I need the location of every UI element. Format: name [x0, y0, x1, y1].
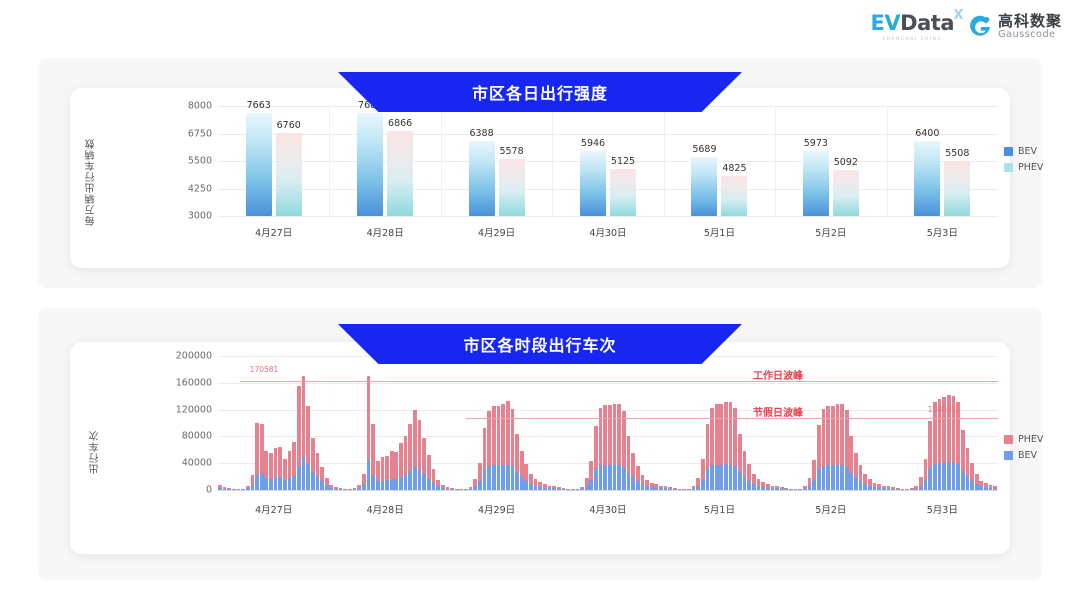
chart2-stacked-bar	[849, 436, 853, 490]
chart2-segment-bev	[515, 472, 519, 490]
chart2-segment-phev	[390, 451, 394, 478]
chart2-segment-phev	[320, 467, 324, 482]
chart1-legend: BEVPHEV	[1004, 146, 1043, 173]
chart2-stacked-bar	[757, 479, 761, 490]
chart1-value-label: 5092	[834, 157, 858, 168]
chart2-stacked-bar	[515, 434, 519, 490]
chart1-y-tick: 5500	[188, 156, 212, 167]
chart2-segment-bev	[511, 466, 515, 490]
gausscode-text: 高科数聚 Gausscode	[998, 14, 1062, 41]
chart1-bar-bev	[803, 151, 829, 216]
chart2-segment-phev	[608, 405, 612, 465]
chart2-segment-bev	[956, 464, 960, 490]
chart2-stacked-bar	[278, 447, 282, 490]
chart2-segment-bev	[845, 467, 849, 490]
chart1-group-separator	[441, 106, 442, 216]
chart2-segment-phev	[617, 404, 621, 466]
chart2-stacked-bar	[622, 411, 626, 490]
chart2-segment-phev	[283, 459, 287, 480]
chart1-y-axis-label: 每万辆出行车辆数	[84, 118, 99, 226]
chart2-stacked-bar	[928, 421, 932, 490]
chart2-segment-phev	[325, 478, 329, 485]
chart2-stacked-bar	[845, 410, 849, 490]
chart1-legend-swatch	[1004, 163, 1013, 172]
chart2-stacked-bar	[761, 482, 765, 490]
chart2-legend-label: BEV	[1018, 450, 1037, 461]
chart2-stacked-bar	[724, 402, 728, 490]
chart2-stacked-bar	[696, 478, 700, 490]
chart2-stacked-bar	[627, 436, 631, 490]
chart2-segment-bev	[747, 481, 751, 490]
chart2-stacked-bar	[984, 483, 988, 490]
chart2-segment-bev	[961, 471, 965, 490]
chart2-segment-bev	[701, 479, 705, 490]
chart2-segment-phev	[831, 406, 835, 466]
chart2-segment-phev	[534, 479, 538, 486]
chart2-segment-bev	[278, 477, 282, 490]
chart2-segment-phev	[627, 436, 631, 472]
chart2-x-tick: 4月28日	[367, 502, 404, 516]
chart1-bar-phev	[610, 169, 636, 216]
chart2-segment-bev	[622, 467, 626, 490]
chart2-stacked-bar	[873, 483, 877, 490]
chart2-segment-phev	[836, 404, 840, 465]
chart2-segment-phev	[752, 474, 756, 484]
chart2-segment-phev	[478, 463, 482, 480]
chart2-segment-bev	[854, 477, 858, 490]
evdata-letter-v: V	[884, 11, 900, 35]
chart2-stacked-bar	[752, 474, 756, 490]
chart2-stacked-bar	[599, 408, 603, 490]
chart2-stacked-bar	[979, 481, 983, 490]
chart2-legend-swatch	[1004, 451, 1013, 460]
chart2-segment-bev	[506, 465, 510, 490]
chart2-segment-phev	[817, 425, 821, 469]
chart1-value-label: 7663	[247, 100, 271, 111]
chart2-stacked-bar	[362, 474, 366, 490]
chart2-stacked-bar	[863, 474, 867, 490]
chart2-stacked-bar	[473, 479, 477, 490]
chart2-segment-phev	[278, 447, 282, 476]
chart2-stacked-bar	[399, 443, 403, 490]
chart2-y-tick: 80000	[182, 431, 212, 442]
chart2-segment-bev	[394, 479, 398, 490]
chart2-legend-item-bev[interactable]: BEV	[1004, 450, 1043, 461]
chart1-value-label: 6866	[388, 118, 412, 129]
chart2-stacked-bar	[594, 426, 598, 490]
chart2-segment-phev	[302, 376, 306, 457]
chart1-bar-phev	[387, 131, 413, 216]
chart2-segment-phev	[251, 475, 255, 484]
chart2-stacked-bar	[269, 453, 273, 490]
chart1-bar-phev	[499, 159, 525, 216]
chart1-legend-item-phev[interactable]: PHEV	[1004, 162, 1043, 173]
chart2-segment-bev	[302, 457, 306, 490]
chart2-segment-phev	[919, 477, 923, 485]
chart2-stacked-bar	[283, 459, 287, 490]
chart2-legend-item-phev[interactable]: PHEV	[1004, 434, 1043, 445]
chart2-segment-bev	[859, 481, 863, 490]
chart2-stacked-bar	[975, 474, 979, 490]
chart1-bar-phev	[944, 161, 970, 216]
chart2-segment-bev	[413, 467, 417, 490]
chart2-stacked-bar	[320, 467, 324, 490]
chart2-segment-bev	[274, 477, 278, 490]
chart2-stacked-bar	[812, 460, 816, 490]
chart1-value-label: 5125	[611, 156, 635, 167]
chart2-segment-phev	[961, 430, 965, 471]
chart2-segment-phev	[729, 402, 733, 464]
chart2-segment-phev	[613, 404, 617, 464]
chart2-segment-phev	[924, 459, 928, 480]
chart1-x-tick: 5月1日	[704, 225, 735, 239]
chart2-segment-bev	[928, 468, 932, 490]
chart2-segment-bev	[427, 479, 431, 490]
chart2-segment-bev	[849, 473, 853, 490]
chart2-stacked-bar	[636, 466, 640, 490]
chart2-segment-phev	[269, 453, 273, 478]
chart2-stacked-bar	[868, 479, 872, 490]
chart2-stacked-bar	[288, 451, 292, 490]
chart2-segment-phev	[631, 453, 635, 477]
chart1-legend-swatch	[1004, 147, 1013, 156]
chart2-stacked-bar	[743, 451, 747, 490]
chart2-segment-bev	[524, 481, 528, 490]
chart2-segment-phev	[966, 448, 970, 475]
chart1-legend-label: BEV	[1018, 146, 1037, 157]
chart2-stacked-bar	[274, 448, 278, 490]
chart2-stacked-bar	[255, 423, 259, 490]
chart2-segment-bev	[608, 465, 612, 490]
chart2-stacked-bar	[418, 420, 422, 490]
chart1-bar-phev	[276, 133, 302, 216]
chart2-stacked-bar	[506, 401, 510, 490]
chart2-stacked-bar	[645, 480, 649, 490]
chart2-gridline	[218, 383, 998, 384]
chart2-segment-phev	[812, 460, 816, 479]
chart2-stacked-bar	[404, 436, 408, 490]
chart2-segment-bev	[492, 465, 496, 490]
chart2-stacked-bar	[738, 434, 742, 490]
chart2-x-tick: 5月1日	[704, 502, 735, 516]
chart2-segment-bev	[264, 478, 268, 490]
chart2-stacked-bar	[706, 424, 710, 490]
chart2-y-tick: 200000	[176, 351, 212, 362]
chart2-stacked-bar	[390, 451, 394, 490]
chart2-segment-phev	[501, 404, 505, 465]
chart2-stacked-bar	[822, 409, 826, 490]
chart2-segment-bev	[404, 475, 408, 490]
chart2-segment-bev	[631, 477, 635, 490]
chart1-gridline	[218, 216, 998, 217]
chart1-value-label: 5973	[804, 138, 828, 149]
chart2-segment-phev	[422, 438, 426, 474]
chart2-segment-phev	[264, 451, 268, 478]
chart2-stacked-bar	[413, 410, 417, 490]
chart2-segment-bev	[724, 464, 728, 490]
chart2-x-tick: 4月27日	[255, 502, 292, 516]
chart2-segment-bev	[831, 465, 835, 490]
chart2-legend: PHEVBEV	[1004, 434, 1043, 461]
chart2-stacked-bar	[478, 463, 482, 490]
chart2-x-tick: 4月30日	[589, 502, 626, 516]
chart2-segment-phev	[427, 455, 431, 478]
chart1-gridline	[218, 161, 998, 162]
chart2-segment-phev	[603, 405, 607, 465]
chart2-segment-phev	[594, 426, 598, 470]
chart2-y-tick: 0	[206, 485, 212, 496]
chart2-segment-bev	[260, 473, 264, 490]
chart2-segment-phev	[826, 406, 830, 466]
chart1-value-label: 5689	[692, 144, 716, 155]
chart-daily-intensity: 每万辆出行车辆数 30004250550067508000766367604月2…	[70, 88, 1010, 268]
chart1-bar-bev	[580, 151, 606, 216]
chart2-segment-bev	[306, 464, 310, 490]
chart2-segment-phev	[255, 423, 259, 475]
chart2-segment-bev	[603, 465, 607, 490]
chart2-stacked-bar	[251, 475, 255, 490]
chart2-segment-bev	[311, 472, 315, 490]
chart1-bar-bev	[914, 141, 940, 216]
chart2-segment-phev	[274, 448, 278, 477]
chart2-segment-phev	[641, 475, 645, 484]
section-title-daily-intensity: 市区各日出行强度	[338, 72, 742, 112]
chart-card-daily-intensity: 每万辆出行车辆数 30004250550067508000766367604月2…	[70, 88, 1010, 268]
chart2-segment-bev	[478, 481, 482, 490]
chart2-segment-bev	[408, 471, 412, 490]
chart2-stacked-bar	[311, 438, 315, 490]
chart2-x-tick: 5月3日	[927, 502, 958, 516]
chart1-plot-area: 30004250550067508000766367604月27日7684686…	[218, 106, 998, 216]
chart2-segment-phev	[622, 411, 626, 467]
chart2-segment-bev	[947, 462, 951, 490]
chart2-y-tick: 160000	[176, 377, 212, 388]
chart2-stacked-bar	[701, 459, 705, 490]
chart2-stacked-bar	[306, 406, 310, 490]
chart2-stacked-bar	[970, 463, 974, 490]
chart1-bar-bev	[469, 141, 495, 216]
chart1-value-label: 5508	[945, 148, 969, 159]
gausscode-name-cn: 高科数聚	[998, 14, 1062, 30]
chart2-segment-bev	[385, 480, 389, 490]
chart1-value-label: 6760	[277, 120, 301, 131]
chart2-stacked-bar	[854, 452, 858, 490]
chart2-segment-phev	[381, 457, 385, 480]
chart2-stacked-bar	[617, 404, 621, 490]
chart1-group-separator	[552, 106, 553, 216]
evdata-wordmark: EVDataX	[871, 13, 954, 34]
chart2-stacked-bar	[524, 464, 528, 490]
chart2-segment-phev	[316, 453, 320, 476]
chart2-stacked-bar	[371, 424, 375, 490]
chart2-segment-bev	[970, 481, 974, 490]
chart2-stacked-bar	[585, 478, 589, 490]
page-header: EVDataX SHANGHAI CHINA 高科数聚 Gausscode	[0, 0, 1080, 58]
chart2-peak-value-108051: 108051	[928, 405, 957, 414]
chart2-stacked-bar	[408, 424, 412, 490]
chart2-segment-bev	[817, 469, 821, 490]
chart2-stacked-bar	[264, 451, 268, 490]
chart2-stacked-bar	[427, 455, 431, 490]
chart2-stacked-bar	[641, 475, 645, 490]
chart2-segment-phev	[585, 478, 589, 486]
chart2-segment-bev	[599, 465, 603, 490]
chart2-stacked-bar	[436, 480, 440, 490]
chart2-segment-bev	[729, 465, 733, 490]
chart1-bar-bev	[246, 113, 272, 216]
chart2-segment-phev	[418, 420, 422, 470]
chart2-segment-phev	[757, 479, 761, 486]
chart2-segment-phev	[367, 376, 371, 459]
chart2-segment-phev	[747, 464, 751, 481]
chart2-stacked-bar	[325, 478, 329, 490]
chart2-peak-value-170581: 170581	[250, 365, 279, 374]
chart2-segment-phev	[413, 410, 417, 467]
chart2-stacked-bar	[302, 376, 306, 490]
chart2-stacked-bar	[924, 459, 928, 490]
chart1-group-separator	[887, 106, 888, 216]
chart2-stacked-bar	[432, 469, 436, 490]
section-daily-intensity: 市区各日出行强度 每万辆出行车辆数 3000425055006750800076…	[38, 58, 1042, 288]
chart2-segment-bev	[706, 469, 710, 490]
chart2-annotation-holiday-peak: 节假日波峰	[753, 404, 803, 419]
chart1-x-tick: 4月29日	[478, 225, 515, 239]
chart2-segment-phev	[928, 421, 932, 468]
evdata-letter-e: E	[871, 11, 885, 35]
gausscode-logo: 高科数聚 Gausscode	[968, 14, 1062, 41]
chart2-segment-bev	[381, 481, 385, 490]
chart2-stacked-bar	[729, 402, 733, 490]
chart2-segment-phev	[863, 474, 867, 484]
section-hourly-trips: 市区各时段出行车次 出行车次 0400008000012000016000020…	[38, 308, 1042, 580]
chart2-segment-phev	[738, 434, 742, 472]
chart2-plot-area: 040000800001200001600002000004月27日4月28日4…	[218, 356, 998, 490]
chart1-x-tick: 4月28日	[367, 225, 404, 239]
chart2-x-tick: 5月2日	[815, 502, 846, 516]
chart2-stacked-bar	[316, 453, 320, 490]
chart2-segment-bev	[367, 459, 371, 490]
chart2-segment-bev	[255, 475, 259, 490]
chart2-stacked-bar	[292, 442, 296, 490]
chart2-stacked-bar	[394, 452, 398, 490]
chart2-stacked-bar	[859, 465, 863, 490]
chart2-stacked-bar	[483, 428, 487, 490]
chart2-segment-bev	[487, 466, 491, 490]
chart2-segment-phev	[715, 404, 719, 464]
chart2-segment-bev	[812, 480, 816, 490]
chart1-value-label: 5578	[499, 146, 523, 157]
chart1-x-tick: 4月27日	[255, 225, 292, 239]
evdata-logo: EVDataX SHANGHAI CHINA	[871, 13, 954, 41]
chart1-y-tick: 8000	[188, 101, 212, 112]
chart2-segment-bev	[636, 481, 640, 490]
chart2-segment-phev	[492, 406, 496, 465]
chart2-segment-bev	[733, 466, 737, 490]
chart2-segment-bev	[840, 465, 844, 490]
chart2-segment-phev	[260, 424, 264, 473]
chart2-stacked-bar	[520, 451, 524, 490]
chart2-segment-phev	[399, 443, 403, 477]
chart2-segment-bev	[376, 481, 380, 490]
chart1-bar-phev	[833, 170, 859, 216]
chart2-segment-bev	[938, 463, 942, 490]
chart2-segment-phev	[404, 436, 408, 475]
chart2-segment-phev	[376, 461, 380, 482]
chart2-segment-phev	[589, 461, 593, 480]
chart2-stacked-bar	[385, 456, 389, 490]
chart2-stacked-bar	[367, 376, 371, 490]
chart2-segment-phev	[701, 459, 705, 479]
chart2-segment-phev	[840, 404, 844, 466]
chart2-segment-bev	[497, 465, 501, 490]
chart2-segment-phev	[306, 406, 310, 464]
chart2-stacked-bar	[840, 404, 844, 490]
chart2-stacked-bar	[381, 457, 385, 490]
chart2-segment-phev	[515, 434, 519, 472]
chart2-stacked-bar	[487, 411, 491, 490]
chart2-segment-bev	[418, 470, 422, 490]
chart2-stacked-bar	[966, 448, 970, 490]
chart2-segment-bev	[371, 475, 375, 490]
chart2-stacked-bar	[297, 385, 301, 490]
chart2-segment-phev	[483, 428, 487, 470]
chart2-segment-phev	[297, 386, 301, 466]
chart2-segment-phev	[432, 469, 436, 482]
chart2-segment-phev	[636, 466, 640, 481]
chart2-stacked-bar	[747, 464, 751, 490]
chart2-segment-bev	[269, 479, 273, 490]
chart2-segment-bev	[320, 481, 324, 490]
section-title-hourly-trips: 市区各时段出行车次	[338, 324, 742, 364]
chart1-bar-bev	[357, 113, 383, 216]
chart1-group-separator	[775, 106, 776, 216]
chart2-stacked-bar	[836, 404, 840, 490]
chart2-segment-bev	[924, 479, 928, 490]
chart1-gridline	[218, 134, 998, 135]
chart2-stacked-bar	[919, 477, 923, 490]
chart-card-hourly-trips: 出行车次 040000800001200001600002000004月27日4…	[70, 342, 1010, 554]
chart1-value-label: 6400	[915, 128, 939, 139]
chart2-segment-phev	[408, 424, 412, 472]
chart2-stacked-bar	[956, 402, 960, 490]
chart1-value-label: 6388	[469, 128, 493, 139]
chart2-segment-bev	[966, 476, 970, 490]
chart2-segment-phev	[706, 424, 710, 469]
chart2-stacked-bar	[817, 425, 821, 490]
evdata-superscript-x: X	[953, 9, 963, 22]
chart2-segment-phev	[975, 474, 979, 484]
chart2-segment-bev	[399, 477, 403, 490]
chart2-annotation-line-weekday	[240, 381, 998, 383]
chart1-legend-item-bev[interactable]: BEV	[1004, 146, 1043, 157]
chart2-stacked-bar	[260, 424, 264, 490]
gausscode-name-en: Gausscode	[998, 29, 1062, 40]
chart2-annotation-weekday-peak: 工作日波峰	[753, 367, 803, 382]
chart2-segment-phev	[497, 406, 501, 466]
chart1-bar-bev	[691, 157, 717, 216]
chart2-segment-bev	[432, 483, 436, 490]
chart2-stacked-bar	[589, 461, 593, 490]
chart2-segment-phev	[394, 452, 398, 479]
chart2-segment-phev	[524, 464, 528, 481]
chart2-segment-phev	[859, 465, 863, 481]
chart2-stacked-bar	[511, 409, 515, 490]
chart2-segment-bev	[743, 477, 747, 490]
chart2-segment-phev	[529, 474, 533, 484]
chart2-segment-phev	[956, 402, 960, 464]
chart2-segment-phev	[719, 404, 723, 464]
evdata-letters-data: Data	[900, 11, 954, 35]
